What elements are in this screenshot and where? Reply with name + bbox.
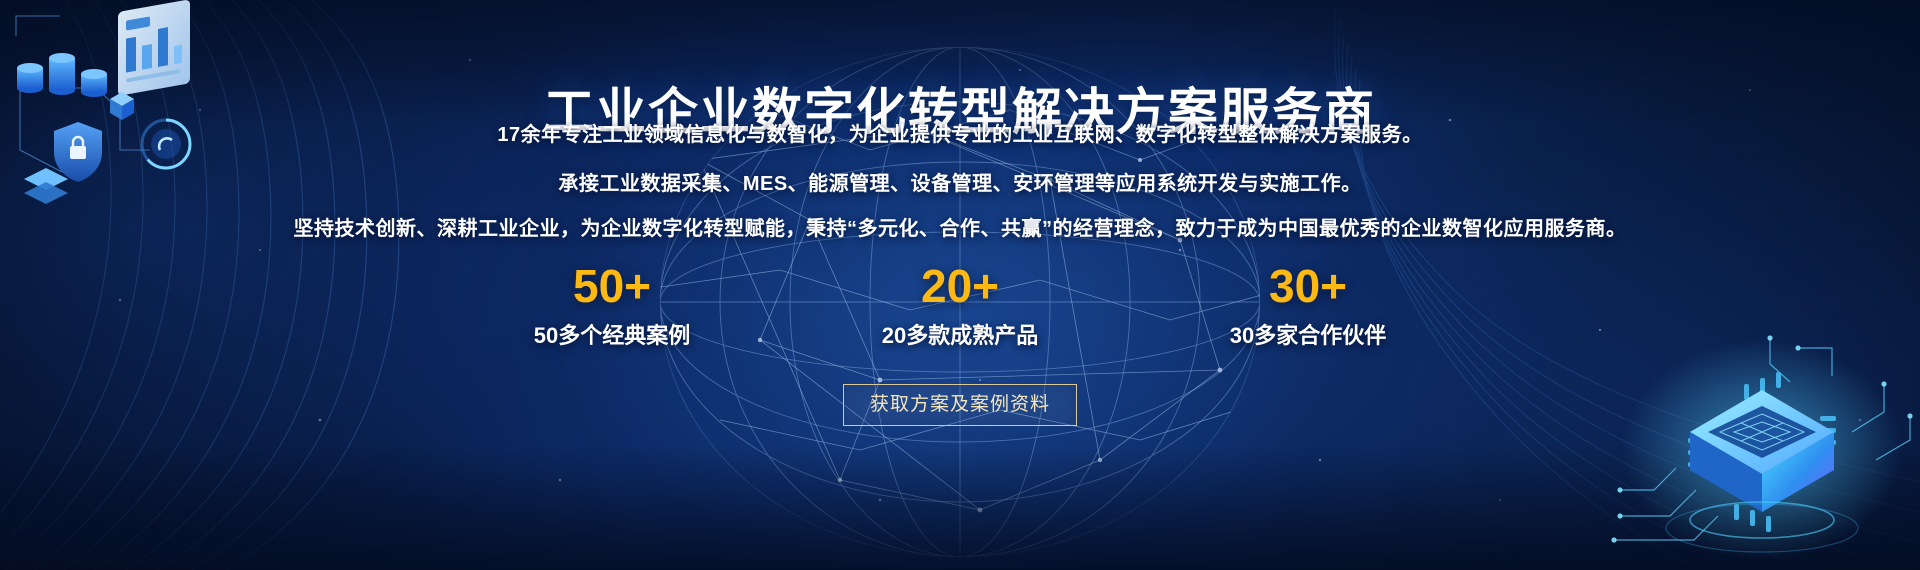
stat-label: 30多家合作伙伴 xyxy=(1208,318,1408,350)
subtitle-line-3: 坚持技术创新、深耕工业企业，为企业数字化转型赋能，秉持“多元化、合作、共赢”的经… xyxy=(0,212,1920,241)
stat-number: 50+ xyxy=(512,262,712,310)
stat-label: 50多个经典案例 xyxy=(512,318,712,350)
stat-item: 50+ 50多个经典案例 xyxy=(512,262,712,350)
subtitle-line-2: 承接工业数据采集、MES、能源管理、设备管理、安环管理等应用系统开发与实施工作。 xyxy=(0,167,1920,196)
stat-label: 20多款成熟产品 xyxy=(860,318,1060,350)
get-solution-button[interactable]: 获取方案及案例资料 xyxy=(843,384,1077,426)
stat-number: 20+ xyxy=(860,262,1060,310)
stat-number: 30+ xyxy=(1208,262,1408,310)
stat-item: 20+ 20多款成熟产品 xyxy=(860,262,1060,350)
hero-banner: 工业企业数字化转型解决方案服务商 17余年专注工业领域信息化与数智化，为企业提供… xyxy=(0,0,1920,570)
subtitle-line-1: 17余年专注工业领域信息化与数智化，为企业提供专业的工业互联网、数字化转型整体解… xyxy=(0,118,1920,147)
stat-item: 30+ 30多家合作伙伴 xyxy=(1208,262,1408,350)
stats-group: 50+ 50多个经典案例 20+ 20多款成熟产品 30+ 30多家合作伙伴 xyxy=(512,262,1408,350)
banner-content: 工业企业数字化转型解决方案服务商 17余年专注工业领域信息化与数智化，为企业提供… xyxy=(0,0,1920,570)
